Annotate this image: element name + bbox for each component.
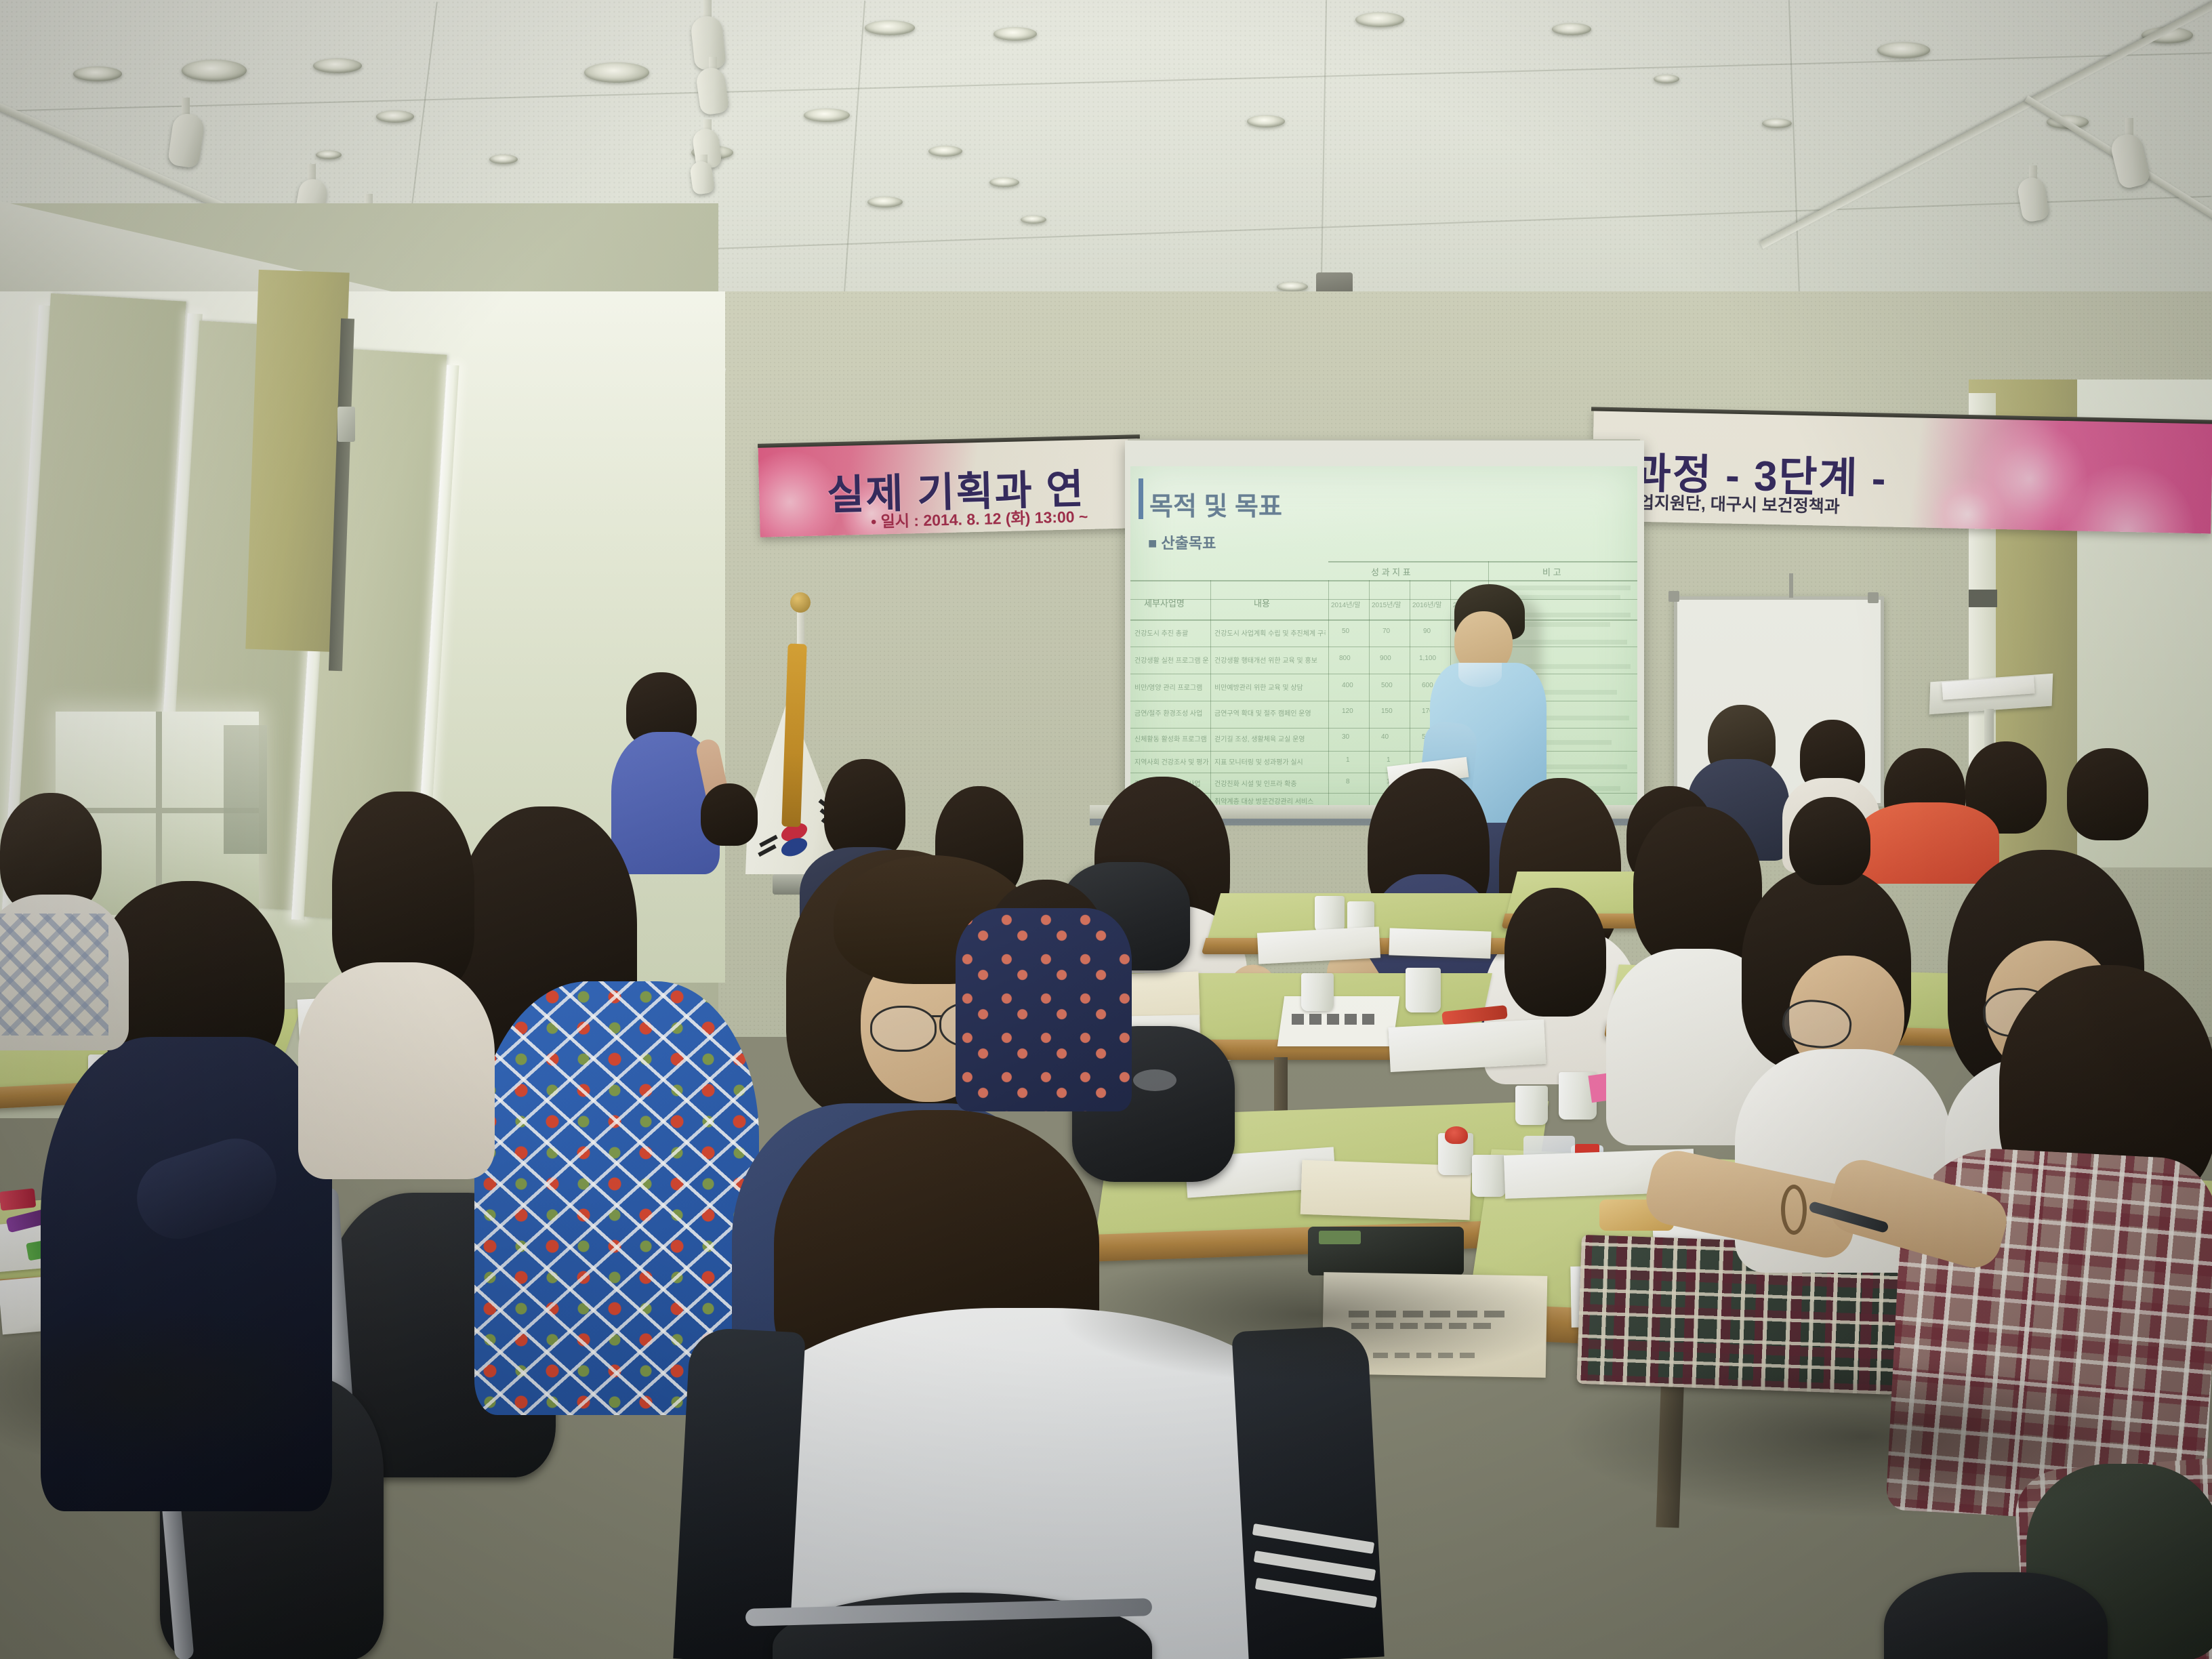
ceiling-downlight <box>1247 115 1285 127</box>
ceiling-downlight <box>489 155 518 164</box>
slide-table-cell: 건강생활 실천 프로그램 운영 <box>1134 655 1209 665</box>
slide-table-line <box>1130 751 1637 752</box>
ceiling-downlight <box>1877 42 1930 58</box>
slide-table-cell: 400 <box>1342 682 1353 689</box>
attendee-hair <box>2067 748 2148 840</box>
paper-cup <box>1301 973 1334 1011</box>
eyeglasses-bridge <box>931 1015 942 1017</box>
slide-table-note <box>1495 586 1631 590</box>
chair[interactable] <box>1884 1572 2108 1659</box>
slide-table-cell: 신체활동 활성화 프로그램 <box>1134 733 1209 743</box>
slide-bullet-label: ■ 산출목표 <box>1148 531 1216 553</box>
whiteboard-corner <box>1668 591 1679 602</box>
slide-table-cell: 600 <box>1422 682 1433 689</box>
slide-table-line <box>1130 773 1637 773</box>
slide-table-cell: 금연구역 확대 및 절주 캠페인 운영 <box>1214 708 1326 718</box>
slide-table-cell: 취약계층 대상 방문건강관리 서비스 <box>1214 796 1326 805</box>
paper-cup <box>1472 1155 1506 1197</box>
paper-cup <box>1515 1086 1548 1125</box>
outside-building <box>224 725 267 854</box>
slide-table-header: 2016년/말 <box>1412 599 1441 609</box>
slide-table-line <box>1130 647 1637 647</box>
slide-table-cell: 90 <box>1423 628 1431 635</box>
attendee-far-hair <box>701 783 758 846</box>
paper-sheet <box>1257 926 1380 964</box>
presenter-collar <box>1458 663 1502 687</box>
column-band <box>1969 590 1997 607</box>
wall-switch-plate <box>337 407 355 442</box>
banner-left: 실제 기획과 연 • 일시 : 2014. 8. 12 (화) 13:00 ~ <box>758 436 1139 537</box>
paper-sheet <box>1389 928 1491 958</box>
slide-table-cell: 40 <box>1381 733 1389 741</box>
slide-title-accent-bar <box>1139 478 1143 519</box>
ceiling-downlight <box>1355 12 1404 27</box>
slide-table-cell: 8 <box>1346 778 1350 785</box>
banner-right: 성과정 - 3단계 - 증진사업지원단, 대구시 보건정책과 <box>1591 408 2212 533</box>
chair-logo <box>1133 1069 1176 1091</box>
ceiling-downlight <box>1277 282 1308 291</box>
attendee-beige-top <box>298 962 495 1179</box>
slide-table-cell: 건강도시 사업계획 수립 및 추진체계 구축 <box>1214 628 1326 638</box>
slide-table-header: 2015년/말 <box>1372 599 1401 609</box>
slide-table-cell: 걷기길 조성, 생활체육 교실 운영 <box>1214 733 1326 743</box>
slide-table-line <box>1130 701 1637 701</box>
slide-table-line <box>1210 580 1211 805</box>
attendee-hair <box>1504 888 1606 1017</box>
slide-table-cell: 건강친화 시설 및 인프라 확충 <box>1214 778 1326 788</box>
slide-table-line <box>1488 561 1637 562</box>
slide-table-cell: 지역사회 건강조사 및 평가 <box>1134 756 1209 766</box>
ceiling-downlight <box>1762 119 1792 128</box>
ceiling-downlight <box>1654 75 1679 83</box>
attendee-bracelet <box>1781 1185 1807 1235</box>
slide-table-line <box>1328 561 1488 562</box>
ceiling-downlight <box>867 197 903 207</box>
ceiling-downlight <box>182 60 247 81</box>
attendee-hair <box>824 759 905 861</box>
slide-table-cell: 1,100 <box>1419 655 1436 662</box>
slide-table-cell: 800 <box>1339 655 1351 662</box>
slide-table-line <box>1130 619 1637 621</box>
ceiling-downlight <box>1552 23 1591 35</box>
slide-table-cell: 건강생활 행태개선 위한 교육 및 홍보 <box>1214 655 1326 665</box>
slide-table-header: 세부사업명 <box>1144 596 1185 609</box>
attendee-orange-top <box>1857 802 1999 884</box>
ceiling-downlight <box>73 66 122 81</box>
slide-table-cell: 500 <box>1381 682 1393 689</box>
pencil-case-zip <box>1319 1231 1361 1244</box>
ceiling-downlight <box>316 150 342 159</box>
paper-cup <box>1406 968 1441 1012</box>
ceiling-downlight <box>928 146 962 157</box>
ceiling-downlight <box>989 178 1019 187</box>
ceiling-downlight <box>1021 216 1046 224</box>
paper-sheet <box>1388 1019 1546 1072</box>
ceiling-downlight <box>865 20 915 35</box>
slide-table-cell: 지표 모니터링 및 성과평가 실시 <box>1214 756 1326 766</box>
slide-table-header: 2014년/말 <box>1331 599 1360 609</box>
projection-screen: 목적 및 목표 ■ 산출목표 성 과 지 표 비 고 세부사업명 내용 2014… <box>1130 466 1637 805</box>
ceiling-downlight <box>376 110 414 123</box>
strawberry <box>1445 1126 1468 1144</box>
slide-table-cell: 900 <box>1380 655 1391 662</box>
slide-table-cell: 30 <box>1342 733 1349 741</box>
attendee-dot-navy-top <box>956 908 1132 1111</box>
slide-table-cell: 150 <box>1381 708 1393 715</box>
slide-table-cell: 1 <box>1346 756 1350 764</box>
slide-table-line <box>1130 580 1637 581</box>
slide-table-header-group: 비 고 <box>1542 565 1561 578</box>
whiteboard-hanger <box>1789 573 1793 598</box>
slide-table-cell: 건강도시 추진 총괄 <box>1134 628 1209 638</box>
slide-table-header-group: 성 과 지 표 <box>1371 565 1411 578</box>
eyeglasses-left-lens <box>870 1006 937 1052</box>
slide-title: 목적 및 목표 <box>1149 485 1282 523</box>
whiteboard-corner <box>1868 592 1879 603</box>
ceiling-downlight <box>804 108 850 122</box>
slide-table-line <box>1130 728 1637 729</box>
ceiling-downlight <box>313 58 362 73</box>
slide-table-cell: 비만예방관리 위한 교육 및 상담 <box>1214 682 1326 692</box>
ceiling-downlight <box>584 62 649 83</box>
slide-table-cell: 50 <box>1342 628 1349 635</box>
slide-table-line <box>1328 580 1329 805</box>
paper-cup <box>1315 896 1345 933</box>
floor-shadow <box>1057 1247 1572 1382</box>
slide-table-cell: 비만/영양 관리 프로그램 <box>1134 682 1209 692</box>
slide-table-line <box>1130 674 1637 674</box>
photo-scene: 실제 기획과 연 • 일시 : 2014. 8. 12 (화) 13:00 ~ … <box>0 0 2212 1659</box>
flag-finial <box>790 592 811 613</box>
floor-shadow <box>1559 1355 2169 1518</box>
ceiling-downlight <box>994 27 1037 41</box>
slide-table-line <box>1369 580 1370 805</box>
attendee-patterned-top <box>0 914 108 1036</box>
slide-table-cell: 120 <box>1342 708 1353 715</box>
slide-table-cell: 금연/절주 환경조성 사업 <box>1134 708 1209 718</box>
attendee-hair <box>1789 797 1870 885</box>
slide-table-cell: 70 <box>1382 628 1390 635</box>
eraser <box>0 1188 36 1210</box>
slide-table-cell: 1 <box>1387 756 1391 764</box>
name-tent-text <box>1292 1014 1378 1025</box>
slide-table-header: 내용 <box>1254 596 1270 609</box>
